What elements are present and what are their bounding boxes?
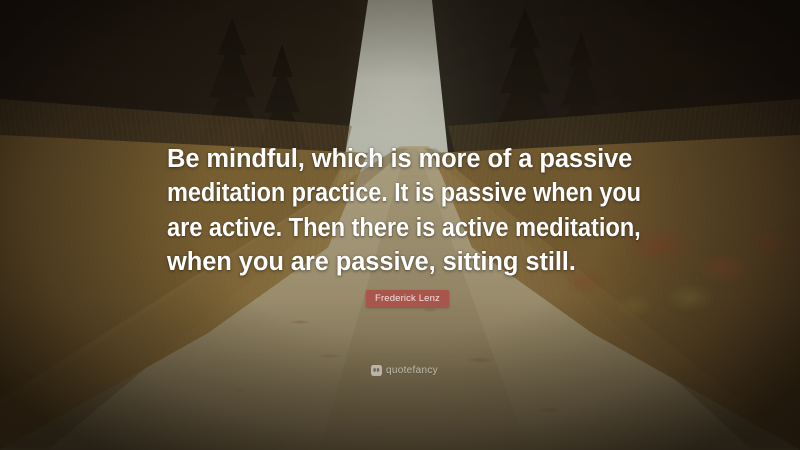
author-badge: Frederick Lenz — [366, 290, 449, 307]
quote-line-1: Be mindful, which is more of a passive — [167, 142, 641, 176]
quote-line-2: meditation practice. It is passive when … — [167, 176, 605, 210]
watermark: quotefancy — [371, 365, 438, 376]
watermark-text: quotefancy — [386, 365, 438, 376]
author-name: Frederick Lenz — [375, 293, 440, 304]
quote-poster: Be mindful, which is more of a passive m… — [0, 0, 800, 450]
quote-line-4: when you are passive, sitting still. — [167, 245, 641, 279]
quote-text: Be mindful, which is more of a passive m… — [167, 142, 641, 280]
quote-line-3: are active. Then there is active meditat… — [167, 211, 608, 245]
quote-mark-icon — [371, 365, 382, 376]
